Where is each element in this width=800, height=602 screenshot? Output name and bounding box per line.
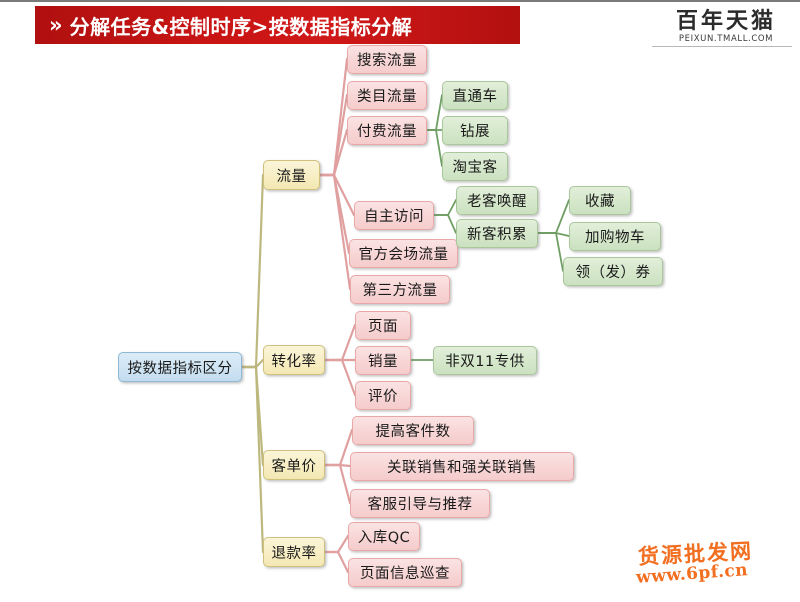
- mindmap-node-fufei-liuliang[interactable]: 付费流量: [347, 116, 427, 145]
- mindmap-node-laoke-huanxing[interactable]: 老客唤醒: [456, 186, 538, 215]
- brand-logo-cn: 百年天猫: [662, 10, 790, 32]
- site-watermark: 货源批发网 www.6pf.cn: [624, 526, 792, 598]
- mindmap-node-pingjia[interactable]: 评价: [355, 381, 411, 410]
- mindmap-branch-zhuanhualv[interactable]: 转化率: [263, 345, 325, 375]
- mindmap-node-tigao-kejianshu[interactable]: 提高客件数: [352, 416, 474, 445]
- brand-logo-url: PEIXUN.TMALL.COM: [662, 35, 790, 44]
- mindmap-node-ruku-qc[interactable]: 入库QC: [348, 522, 420, 551]
- mindmap-node-shoucang[interactable]: 收藏: [569, 186, 631, 215]
- logo-divider: [652, 46, 792, 47]
- slide-title-bar: » 分解任务&控制时序>按数据指标分解: [35, 6, 520, 44]
- watermark-url: www.6pf.cn: [635, 560, 748, 588]
- mindmap-node-jiagou-wuche[interactable]: 加购物车: [569, 222, 661, 251]
- slide-canvas: » 分解任务&控制时序>按数据指标分解 百年天猫 PEIXUN.TMALL.CO…: [0, 0, 800, 602]
- mindmap-branch-tuikuanlv[interactable]: 退款率: [263, 537, 325, 567]
- mindmap-node-zuanzhan[interactable]: 钻展: [442, 116, 508, 145]
- mindmap-node-yemian[interactable]: 页面: [355, 311, 411, 340]
- mindmap-node-leimu-liuliang[interactable]: 类目流量: [347, 81, 427, 110]
- brand-logo: 百年天猫 PEIXUN.TMALL.COM: [662, 10, 790, 44]
- mindmap-branch-liuliang[interactable]: 流量: [263, 160, 320, 190]
- mindmap-node-yemian-xinxi-xuncha[interactable]: 页面信息巡查: [348, 558, 462, 587]
- mindmap-root-node[interactable]: 按数据指标区分: [118, 352, 242, 382]
- chevron-double-right-icon: »: [49, 15, 61, 36]
- watermark-text-cn: 货源批发网: [637, 535, 753, 571]
- mindmap-node-guanlian-xiaoshou[interactable]: 关联销售和强关联销售: [350, 452, 574, 481]
- mindmap-node-disanfang-liuliang[interactable]: 第三方流量: [350, 275, 450, 304]
- mindmap-node-zizhu-fangwen[interactable]: 自主访问: [354, 201, 434, 230]
- mindmap-node-xinke-jilei[interactable]: 新客积累: [456, 219, 538, 248]
- mindmap-node-kefu-yindao[interactable]: 客服引导与推荐: [350, 489, 490, 518]
- mindmap-node-xiaoliang[interactable]: 销量: [355, 346, 411, 375]
- page-title: 分解任务&控制时序>按数据指标分解: [70, 11, 413, 40]
- mindmap-node-feishuang11-zhuangong[interactable]: 非双11专供: [433, 346, 537, 375]
- mindmap-node-zhitongche[interactable]: 直通车: [442, 81, 508, 110]
- mindmap-node-taobaoke[interactable]: 淘宝客: [442, 152, 508, 181]
- mindmap-node-lingfa-quan[interactable]: 领（发）券: [563, 257, 663, 286]
- mindmap-branch-kedanjia[interactable]: 客单价: [263, 450, 325, 480]
- mindmap-node-guanfang-huichang[interactable]: 官方会场流量: [349, 239, 458, 268]
- mindmap-node-sousuo-liuliang[interactable]: 搜索流量: [347, 45, 427, 74]
